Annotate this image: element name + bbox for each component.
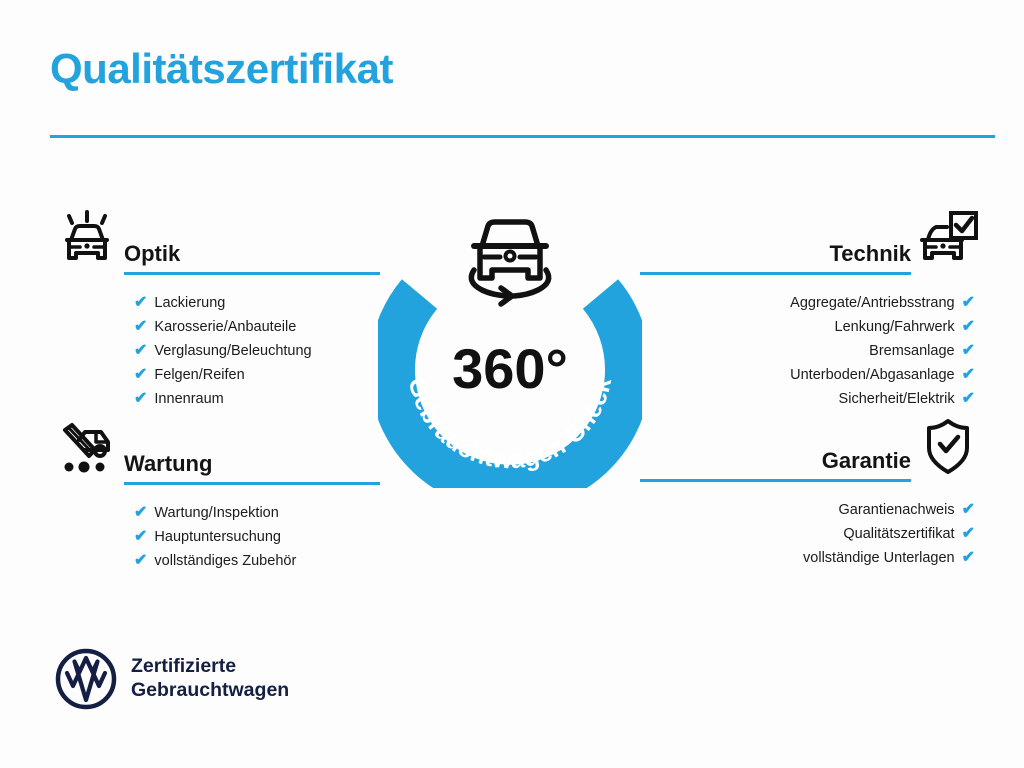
vw-logo-text-line2: Gebrauchtwagen bbox=[131, 679, 289, 703]
section-optik: Optik ✔Lackierung ✔Karosserie/Anbauteile… bbox=[50, 205, 380, 411]
check-icon: ✔ bbox=[962, 502, 975, 518]
section-title-wrap: Wartung bbox=[124, 452, 380, 485]
list-item: ✔Lenkung/Fahrwerk bbox=[640, 315, 985, 339]
list-item-label: Hauptuntersuchung bbox=[154, 530, 281, 545]
check-icon: ✔ bbox=[134, 319, 147, 335]
vw-logo-icon bbox=[55, 648, 117, 710]
section-title-wrap: Optik bbox=[124, 242, 380, 275]
section-title: Wartung bbox=[124, 452, 380, 482]
check-icon: ✔ bbox=[134, 367, 147, 383]
section-header: Technik bbox=[640, 205, 985, 275]
list-item-label: Bremsanlage bbox=[869, 344, 954, 359]
page-title: Qualitätszertifikat bbox=[50, 48, 393, 90]
list-item: ✔Unterboden/Abgasanlage bbox=[640, 363, 985, 387]
list-item: ✔vollständiges Zubehör bbox=[50, 549, 380, 573]
section-title-wrap: Garantie bbox=[640, 449, 911, 482]
check-icon: ✔ bbox=[962, 319, 975, 335]
list-item: ✔Verglasung/Beleuchtung bbox=[50, 339, 380, 363]
check-icon: ✔ bbox=[962, 295, 975, 311]
checklist-wartung: ✔Wartung/Inspektion ✔Hauptuntersuchung ✔… bbox=[50, 501, 380, 573]
list-item: ✔vollständige Unterlagen bbox=[640, 546, 985, 570]
checklist-optik: ✔Lackierung ✔Karosserie/Anbauteile ✔Verg… bbox=[50, 291, 380, 411]
list-item: ✔Felgen/Reifen bbox=[50, 363, 380, 387]
check-icon: ✔ bbox=[962, 550, 975, 566]
section-title: Optik bbox=[124, 242, 380, 272]
vw-logo-text: Zertifizierte Gebrauchtwagen bbox=[131, 655, 289, 703]
list-item-label: Karosserie/Anbauteile bbox=[154, 320, 296, 335]
list-item-label: Lenkung/Fahrwerk bbox=[835, 320, 955, 335]
section-divider bbox=[640, 479, 911, 482]
checklist-garantie: ✔Garantienachweis ✔Qualitätszertifikat ✔… bbox=[640, 498, 985, 570]
list-item: ✔Qualitätszertifikat bbox=[640, 522, 985, 546]
check-icon: ✔ bbox=[134, 505, 147, 521]
car-checkbox-icon bbox=[911, 205, 985, 275]
vw-logo-text-line1: Zertifizierte bbox=[131, 655, 289, 679]
check-icon: ✔ bbox=[134, 529, 147, 545]
badge-360-gebrauchtwagen-check: Gebrauchtwagen-Check 360° bbox=[378, 196, 642, 488]
badge-center-label: 360° bbox=[452, 337, 568, 400]
section-wartung: Wartung ✔Wartung/Inspektion ✔Hauptunters… bbox=[50, 415, 380, 573]
list-item: ✔Garantienachweis bbox=[640, 498, 985, 522]
list-item-label: Qualitätszertifikat bbox=[843, 527, 954, 542]
shield-check-icon bbox=[911, 412, 985, 482]
check-icon: ✔ bbox=[134, 295, 147, 311]
list-item: ✔Wartung/Inspektion bbox=[50, 501, 380, 525]
section-technik: Technik ✔Aggregate/Antriebsstrang ✔Lenku… bbox=[640, 205, 985, 411]
list-item-label: Unterboden/Abgasanlage bbox=[790, 368, 954, 383]
checklist-technik: ✔Aggregate/Antriebsstrang ✔Lenkung/Fahrw… bbox=[640, 291, 985, 411]
list-item: ✔Karosserie/Anbauteile bbox=[50, 315, 380, 339]
section-divider bbox=[124, 272, 380, 275]
car-service-pencil-icon bbox=[50, 415, 124, 485]
check-icon: ✔ bbox=[962, 367, 975, 383]
section-header: Garantie bbox=[640, 412, 985, 482]
check-icon: ✔ bbox=[962, 343, 975, 359]
list-item-label: Wartung/Inspektion bbox=[154, 506, 278, 521]
section-title: Technik bbox=[640, 242, 911, 272]
list-item-label: Innenraum bbox=[154, 392, 223, 407]
list-item: ✔Lackierung bbox=[50, 291, 380, 315]
section-title: Garantie bbox=[640, 449, 911, 479]
list-item-label: Felgen/Reifen bbox=[154, 368, 244, 383]
list-item-label: vollständige Unterlagen bbox=[803, 551, 955, 566]
section-title-wrap: Technik bbox=[640, 242, 911, 275]
check-icon: ✔ bbox=[962, 526, 975, 542]
list-item-label: Sicherheit/Elektrik bbox=[839, 392, 955, 407]
list-item-label: vollständiges Zubehör bbox=[154, 554, 296, 569]
list-item-label: Aggregate/Antriebsstrang bbox=[790, 296, 954, 311]
section-divider bbox=[124, 482, 380, 485]
car-rotate-icon bbox=[471, 222, 548, 304]
list-item: ✔Sicherheit/Elektrik bbox=[640, 387, 985, 411]
section-header: Optik bbox=[50, 205, 380, 275]
check-icon: ✔ bbox=[134, 391, 147, 407]
list-item: ✔Hauptuntersuchung bbox=[50, 525, 380, 549]
list-item: ✔Innenraum bbox=[50, 387, 380, 411]
check-icon: ✔ bbox=[962, 391, 975, 407]
check-icon: ✔ bbox=[134, 343, 147, 359]
list-item-label: Lackierung bbox=[154, 296, 225, 311]
section-header: Wartung bbox=[50, 415, 380, 485]
section-divider bbox=[640, 272, 911, 275]
list-item: ✔Aggregate/Antriebsstrang bbox=[640, 291, 985, 315]
car-shine-icon bbox=[50, 205, 124, 275]
section-garantie: Garantie ✔Garantienachweis ✔Qualitätszer… bbox=[640, 412, 985, 570]
list-item-label: Verglasung/Beleuchtung bbox=[154, 344, 311, 359]
list-item: ✔Bremsanlage bbox=[640, 339, 985, 363]
list-item-label: Garantienachweis bbox=[839, 503, 955, 518]
check-icon: ✔ bbox=[134, 553, 147, 569]
title-divider bbox=[50, 135, 995, 138]
vw-certified-logo: Zertifizierte Gebrauchtwagen bbox=[55, 648, 289, 710]
